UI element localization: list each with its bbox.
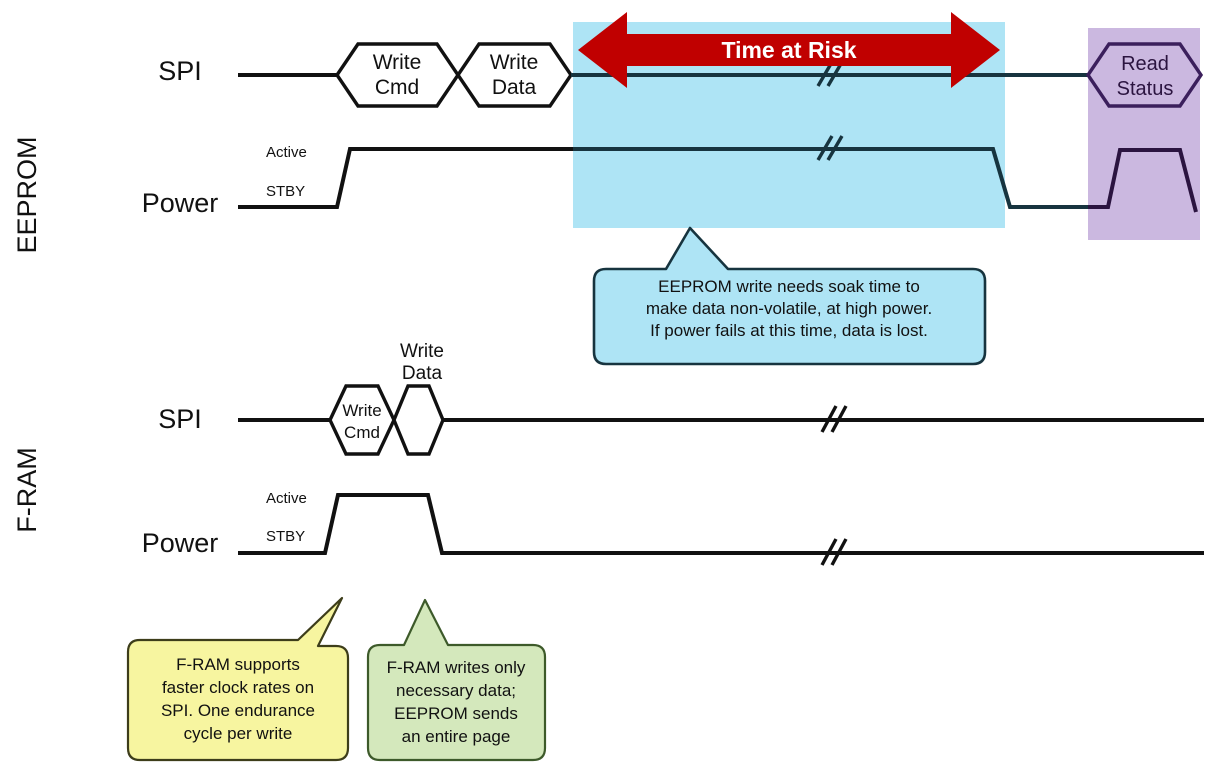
eeprom-spi-row-label: SPI [158,56,202,86]
callout-eeprom-soak-note-line-0: EEPROM write needs soak time to [658,277,920,296]
callout-eeprom-soak-note-line-1: make data non-volatile, at high power. [646,299,932,318]
eeprom-power-level-low: STBY [266,183,305,200]
callout-fram-clock-note-line-0: F-RAM supports [176,655,300,674]
eeprom-spi-packet-0-line1: Write [373,51,422,74]
fram-power-level-high: Active [266,490,307,507]
callout-eeprom-soak-note-line-2: If power fails at this time, data is los… [650,321,928,340]
fram-spi-packet-0-line2: Cmd [344,423,380,442]
fram-power-row-label: Power [142,528,219,558]
eeprom-power-row-label: Power [142,188,219,218]
callout-fram-clock-note-line-1: faster clock rates on [162,678,314,697]
callout-fram-clock-note-line-2: SPI. One endurance [161,701,315,720]
callout-fram-data-note-line-1: necessary data; [396,681,516,700]
eeprom-read-status-line2: Status [1117,78,1174,100]
callout-fram-data-note-line-0: F-RAM writes only [387,658,526,677]
fram-spi-packet-0 [330,386,394,454]
time-at-risk-label: Time at Risk [721,37,856,63]
callout-fram-clock-note-line-3: cycle per write [184,724,293,743]
fram-spi-packet-1-line1: Write [400,341,444,362]
fram-spi-packet-1-line2: Data [402,363,443,384]
eeprom-spi-packet-0-line2: Cmd [375,76,419,99]
callout-fram-data-note-line-3: an entire page [402,727,511,746]
timing-diagram-canvas: EEPROM SPI Write Cmd Write Data Read Sta… [0,0,1214,770]
eeprom-spi-packet-1-line2: Data [492,76,537,99]
section-label-eeprom: EEPROM [12,136,42,253]
eeprom-read-status-line1: Read [1121,53,1169,75]
fram-spi-packet-0-line1: Write [342,401,381,420]
callout-fram-data-note-line-2: EEPROM sends [394,704,518,723]
eeprom-spi-packet-1-line1: Write [490,51,539,74]
section-label-fram: F-RAM [12,447,42,532]
fram-spi-row-label: SPI [158,404,202,434]
eeprom-power-level-high: Active [266,144,307,161]
fram-power-level-low: STBY [266,528,305,545]
